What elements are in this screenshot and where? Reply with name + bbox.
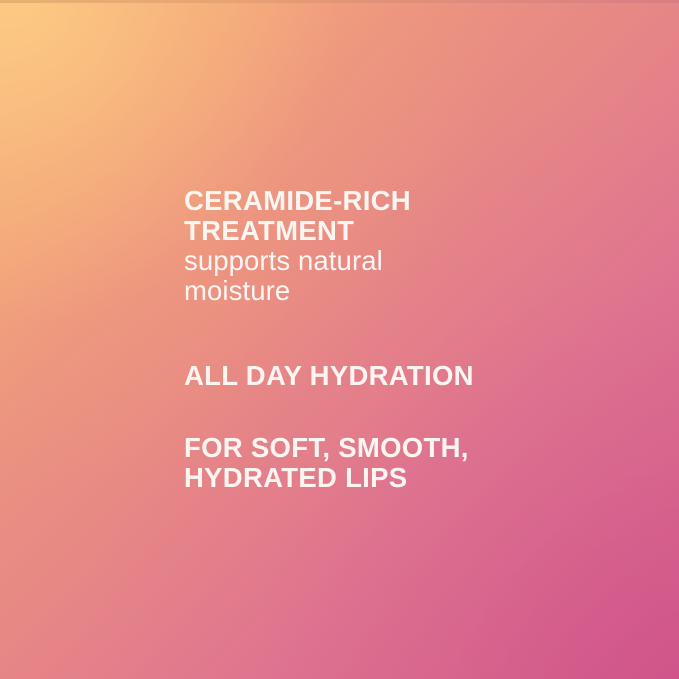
marketing-claims-poster: CERAMIDE-RICH TREATMENT supports natural…	[0, 0, 679, 679]
claim-lips-heading-line-1: FOR SOFT, SMOOTH,	[184, 433, 604, 463]
claims-spacer-1	[184, 306, 604, 361]
claim-lips: FOR SOFT, SMOOTH, HYDRATED LIPS	[184, 433, 604, 493]
claim-lips-heading: FOR SOFT, SMOOTH, HYDRATED LIPS	[184, 433, 604, 493]
claim-ceramide: CERAMIDE-RICH TREATMENT supports natural…	[184, 186, 604, 306]
claim-ceramide-heading: CERAMIDE-RICH TREATMENT	[184, 186, 604, 246]
claim-hydration: ALL DAY HYDRATION	[184, 361, 604, 391]
claims-spacer-2	[184, 391, 604, 433]
claim-ceramide-support: supports natural moisture	[184, 246, 604, 306]
claims-copy-block: CERAMIDE-RICH TREATMENT supports natural…	[184, 186, 604, 493]
claim-ceramide-heading-line-2: TREATMENT	[184, 216, 604, 246]
claim-lips-heading-line-2: HYDRATED LIPS	[184, 463, 604, 493]
top-edge-shading	[0, 0, 679, 3]
claim-ceramide-heading-line-1: CERAMIDE-RICH	[184, 186, 604, 216]
claim-ceramide-support-line-2: moisture	[184, 276, 604, 306]
claim-hydration-heading-line-1: ALL DAY HYDRATION	[184, 361, 604, 391]
claim-ceramide-support-line-1: supports natural	[184, 246, 604, 276]
claim-hydration-heading: ALL DAY HYDRATION	[184, 361, 604, 391]
